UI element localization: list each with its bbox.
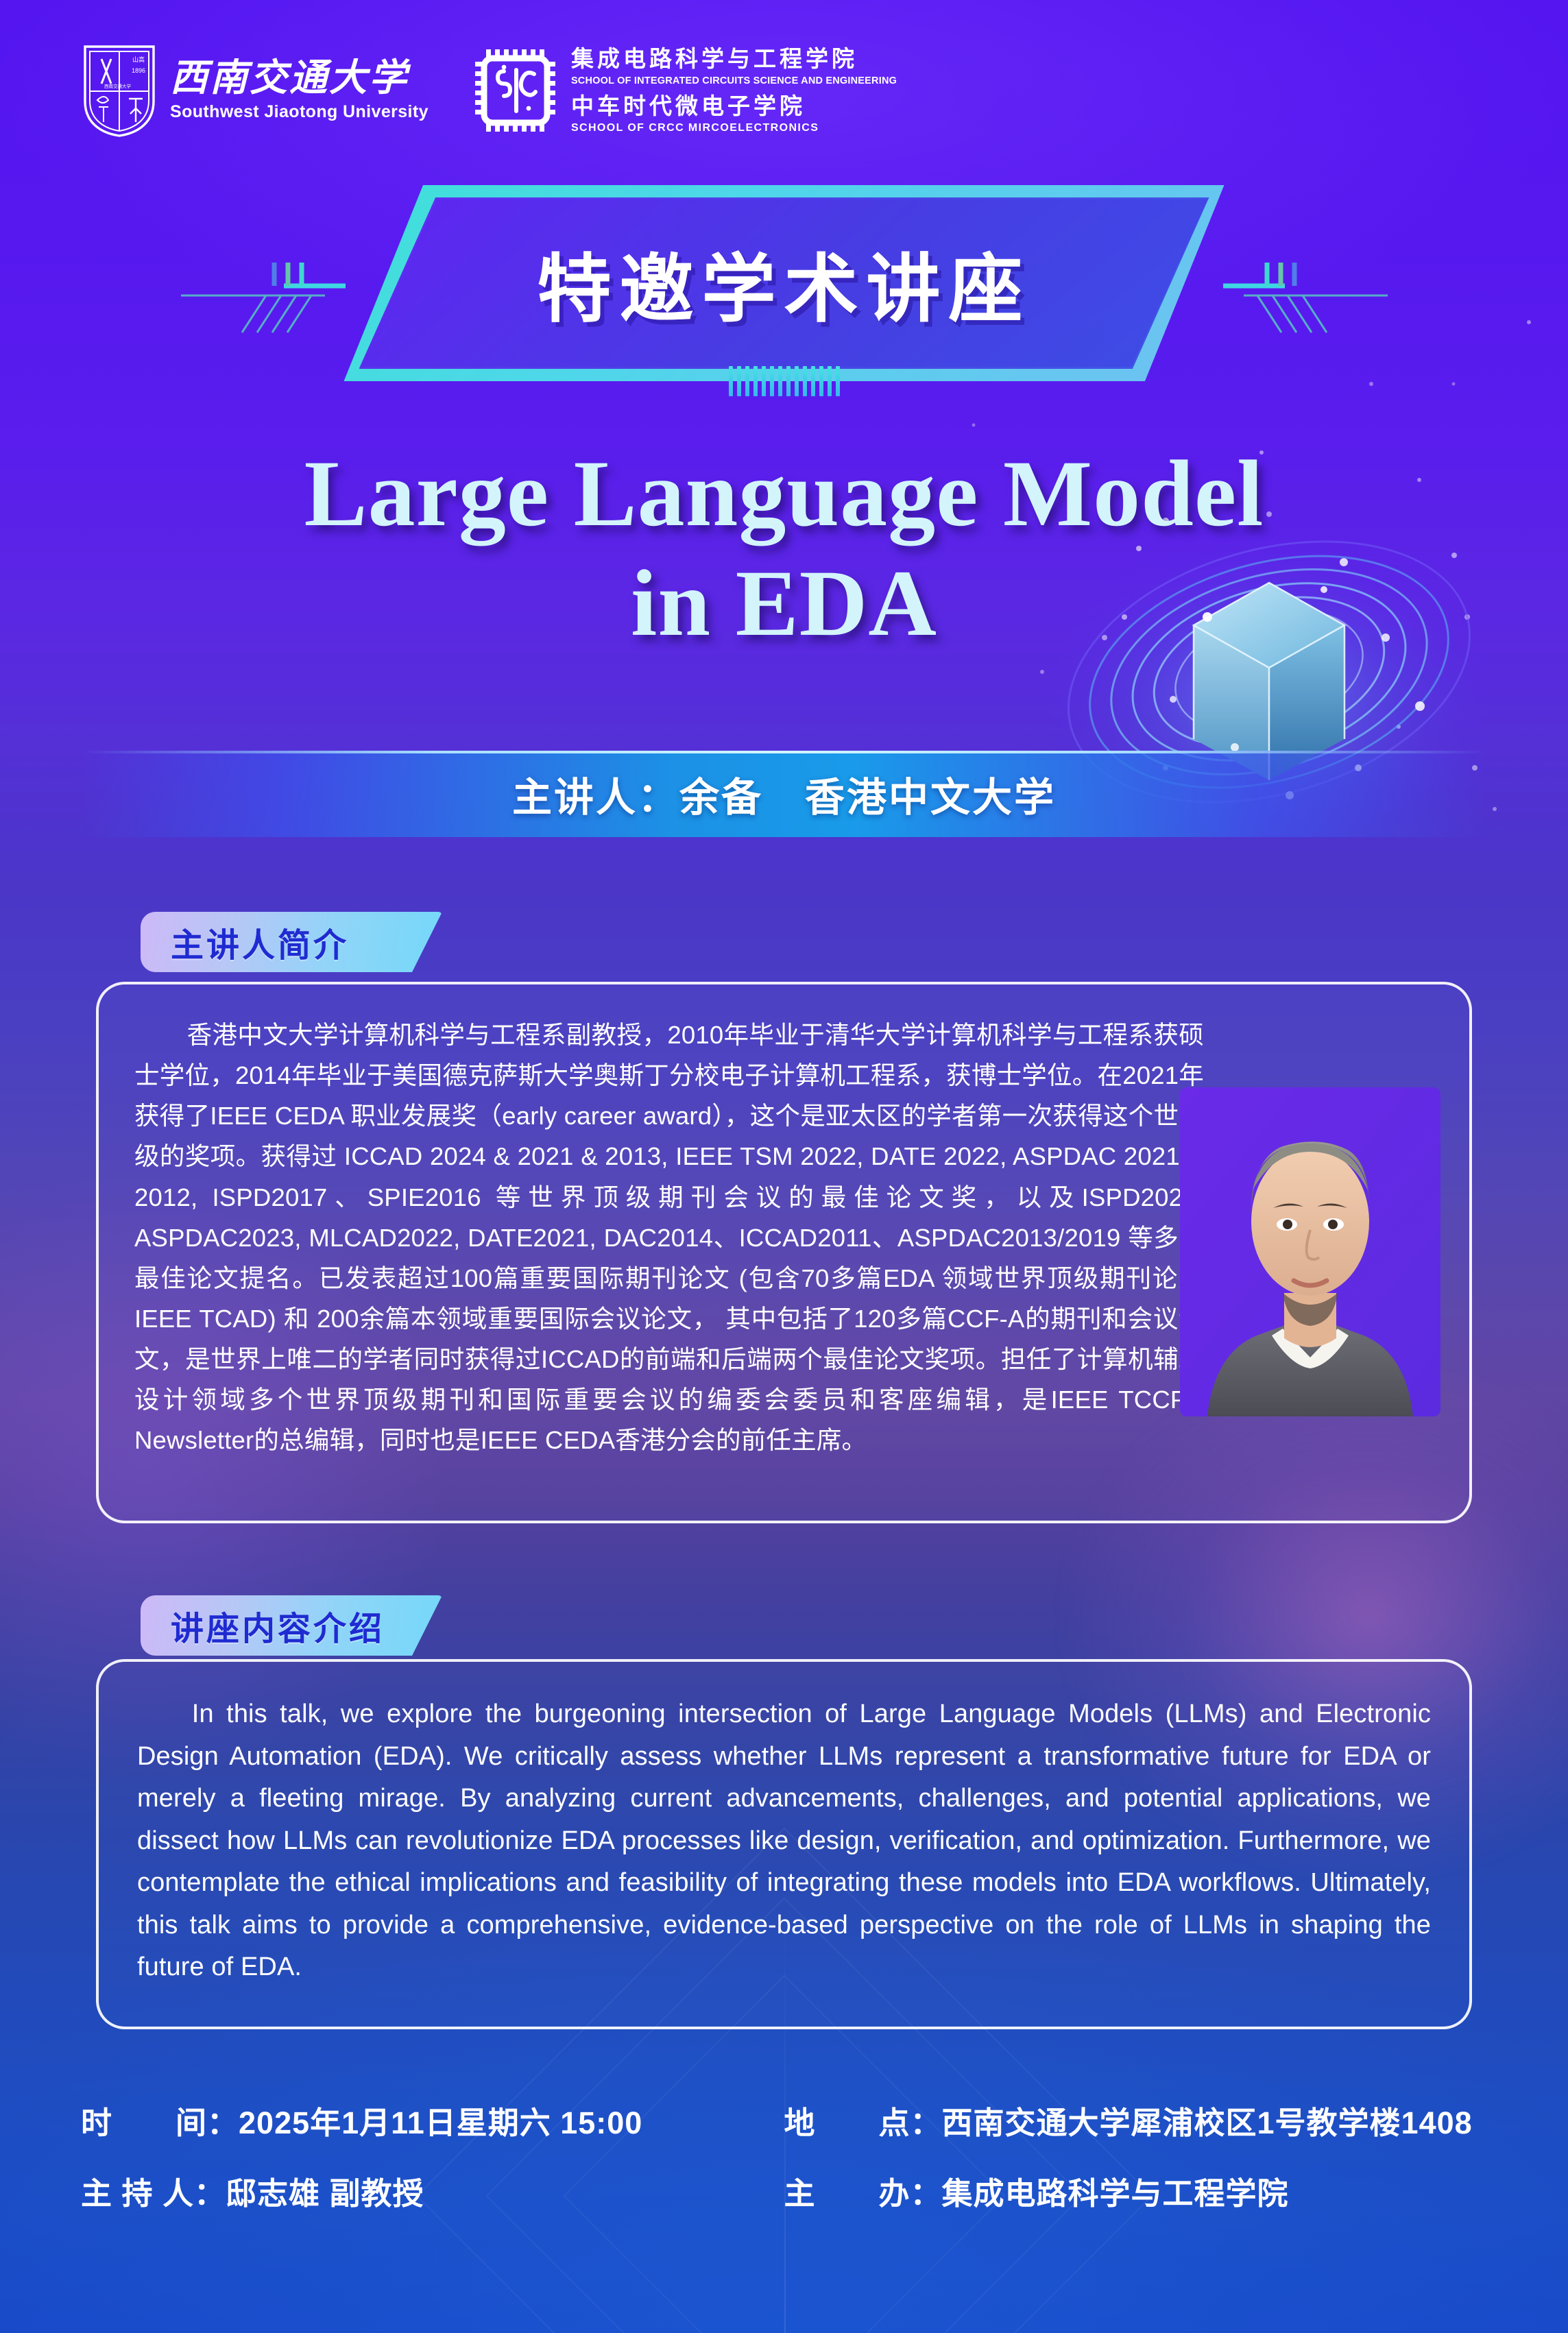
tab-speaker-bio-label: 主讲人简介 [171,918,349,966]
school-name-cn-1: 集成电路科学与工程学院 [571,47,897,71]
footer-organizer-row: 主 办： 集成电路科学与工程学院 [784,2168,1488,2213]
footer-right-column: 地 点： 西南交通大学犀浦校区1号教学楼1408 主 办： 集成电路科学与工程学… [784,2098,1488,2213]
footer-place-label: 地 点： [784,2098,942,2142]
footer-time-value: 2025年1月11日星期六 15:00 [239,2098,642,2142]
banner-barcode-icon [705,366,863,396]
speaker-bio-text: 香港中文大学计算机科学与工程系副教授，2010年毕业于清华大学计算机科学与工程系… [134,1015,1204,1460]
svg-text:西南交通大学: 西南交通大学 [104,83,132,89]
banner-plate: 特邀学术讲座 [359,197,1209,369]
svg-text:山高: 山高 [132,56,145,63]
footer-time-row: 时 间： 2025年1月11日星期六 15:00 [81,2098,784,2142]
page-title-line-2: in EDA [0,548,1568,658]
tech-lines-left-icon [140,228,346,338]
school-name-cn-2: 中车时代微电子学院 [571,94,897,119]
banner-title: 特邀学术讲座 [537,230,1030,337]
header-logos: 山高 1896 西南交通大学 西南交通大学 Southwest Jiaotong… [81,43,897,138]
speaker-bar-text: 主讲人：余备 香港中文大学 [512,765,1056,823]
school-logo: 集成电路科学与工程学院 SCHOOL OF INTEGRATED CIRCUIT… [474,45,897,136]
speaker-bar: 主讲人：余备 香港中文大学 [81,751,1487,837]
school-name-en-1: SCHOOL OF INTEGRATED CIRCUITS SCIENCE AN… [571,75,897,86]
footer-host-row: 主 持 人： 邸志雄 副教授 [81,2168,784,2213]
tab-abstract-label: 讲座内容介绍 [171,1601,385,1649]
speaker-portrait-photo [1180,1087,1440,1416]
footer-organizer-label: 主 办： [784,2168,942,2213]
tech-lines-right-icon [1223,228,1429,338]
footer-left-column: 时 间： 2025年1月11日星期六 15:00 主 持 人： 邸志雄 副教授 [81,2098,784,2213]
abstract-text: In this talk, we explore the burgeoning … [137,1693,1431,1989]
footer-info: 时 间： 2025年1月11日星期六 15:00 主 持 人： 邸志雄 副教授 … [81,2098,1487,2213]
footer-host-value: 邸志雄 副教授 [226,2168,424,2213]
footer-place-value: 西南交通大学犀浦校区1号教学楼1408 [942,2098,1473,2142]
page-title-line-1: Large Language Model [0,439,1568,548]
abstract-card: In this talk, we explore the burgeoning … [96,1659,1472,2029]
university-name-en: Southwest Jiaotong University [170,102,429,122]
footer-organizer-value: 集成电路科学与工程学院 [942,2168,1289,2213]
page-title: Large Language Model in EDA [0,439,1568,658]
speaker-bio-card: 香港中文大学计算机科学与工程系副教授，2010年毕业于清华大学计算机科学与工程系… [96,982,1472,1523]
university-logo: 山高 1896 西南交通大学 西南交通大学 Southwest Jiaotong… [81,43,429,138]
school-name-en-2: SCHOOL OF CRCC MIRCOELECTRONICS [571,122,897,134]
footer-place-row: 地 点： 西南交通大学犀浦校区1号教学楼1408 [784,2098,1488,2142]
svg-text:1896: 1896 [132,67,145,74]
footer-time-label: 时 间： [81,2098,239,2142]
university-name-cn: 西南交通大学 [170,59,429,97]
banner: 特邀学术讲座 [0,197,1568,369]
chip-sic-icon [474,45,559,136]
tab-abstract: 讲座内容介绍 [141,1595,442,1656]
footer-host-label: 主 持 人： [81,2168,226,2213]
university-crest-icon: 山高 1896 西南交通大学 [81,43,158,138]
poster-root: 山高 1896 西南交通大学 西南交通大学 Southwest Jiaotong… [0,0,1568,2333]
tab-speaker-bio: 主讲人简介 [141,912,442,972]
